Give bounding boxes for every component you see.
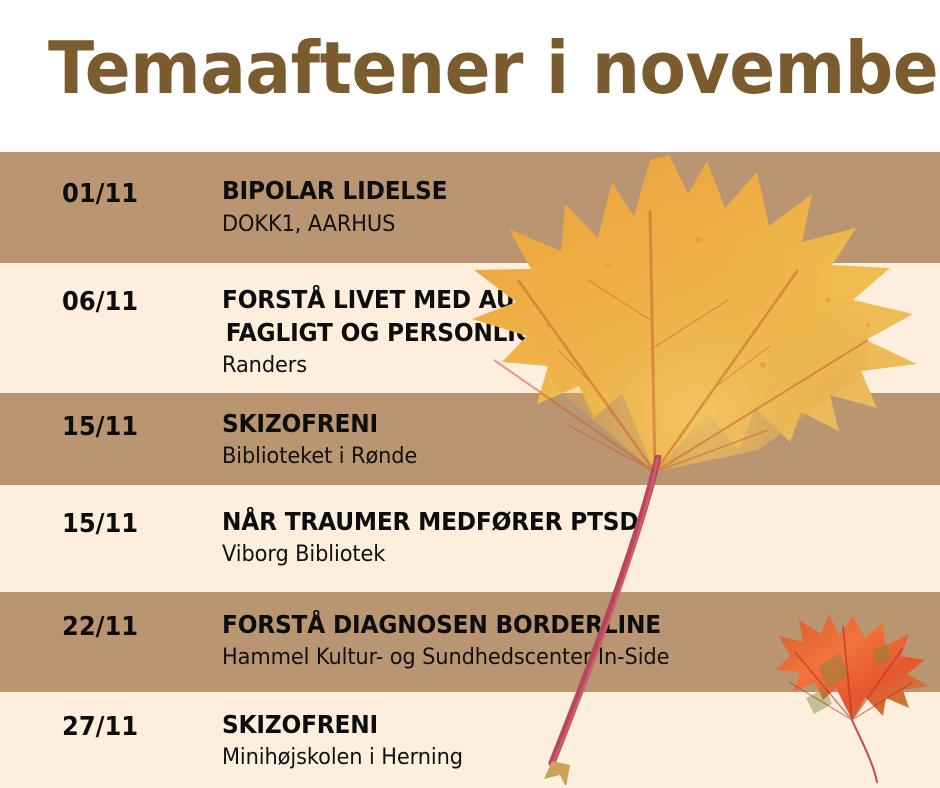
event-venue: Biblioteket i Rønde xyxy=(222,442,895,471)
event-title: SKIZOFRENI xyxy=(222,708,880,741)
event-title-line1: SKIZOFRENI xyxy=(222,409,378,438)
event-venue: Viborg Bibliotek xyxy=(222,540,895,569)
event-title-line1: SKIZOFRENI xyxy=(222,710,378,739)
event-date: 22/11 xyxy=(62,612,138,642)
event-venue: Minihøjskolen i Herning xyxy=(222,743,895,772)
event-title: FORSTÅ LIVET MED AUTISME UD FRA ETFAGLIG… xyxy=(222,283,880,349)
event-title: FORSTÅ DIAGNOSEN BORDERLINE xyxy=(222,608,880,641)
page-title: Temaaftener i november xyxy=(48,25,853,111)
schedule-row: 06/11FORSTÅ LIVET MED AUTISME UD FRA ETF… xyxy=(0,263,940,393)
schedule-row: 27/11SKIZOFRENIMinihøjskolen i Herning xyxy=(0,692,940,788)
event-title: BIPOLAR LIDELSE xyxy=(222,174,880,207)
event-title: SKIZOFRENI xyxy=(222,407,880,440)
poster-canvas: Temaaftener i november 01/11BIPOLAR LIDE… xyxy=(0,0,940,788)
event-date: 15/11 xyxy=(62,412,138,442)
poster-header: Temaaftener i november xyxy=(0,0,940,152)
schedule-row: 22/11FORSTÅ DIAGNOSEN BORDERLINEHammel K… xyxy=(0,592,940,692)
event-date: 06/11 xyxy=(62,287,138,317)
event-title-line1: BIPOLAR LIDELSE xyxy=(222,176,447,205)
event-venue: Randers xyxy=(222,351,895,380)
event-title: NÅR TRAUMER MEDFØRER PTSD xyxy=(222,505,880,538)
schedule-row: 01/11BIPOLAR LIDELSEDOKK1, AARHUS xyxy=(0,152,940,263)
event-date: 27/11 xyxy=(62,712,138,742)
event-title-line1: NÅR TRAUMER MEDFØRER PTSD xyxy=(222,507,638,536)
event-venue: Hammel Kultur- og Sundhedscenter In-Side xyxy=(222,643,895,672)
event-title-line2: FAGLIGT OG PERSONLIGT PERSPEKTIV xyxy=(222,316,880,349)
event-venue: DOKK1, AARHUS xyxy=(222,210,895,239)
schedule-list: 01/11BIPOLAR LIDELSEDOKK1, AARHUS06/11FO… xyxy=(0,152,940,788)
event-title-line1: FORSTÅ DIAGNOSEN BORDERLINE xyxy=(222,610,661,639)
event-date: 01/11 xyxy=(62,179,138,209)
event-date: 15/11 xyxy=(62,509,138,539)
event-title-line1: FORSTÅ LIVET MED AUTISME UD FRA ET xyxy=(222,285,738,314)
schedule-row: 15/11SKIZOFRENIBiblioteket i Rønde xyxy=(0,393,940,485)
schedule-row: 15/11NÅR TRAUMER MEDFØRER PTSDViborg Bib… xyxy=(0,485,940,592)
